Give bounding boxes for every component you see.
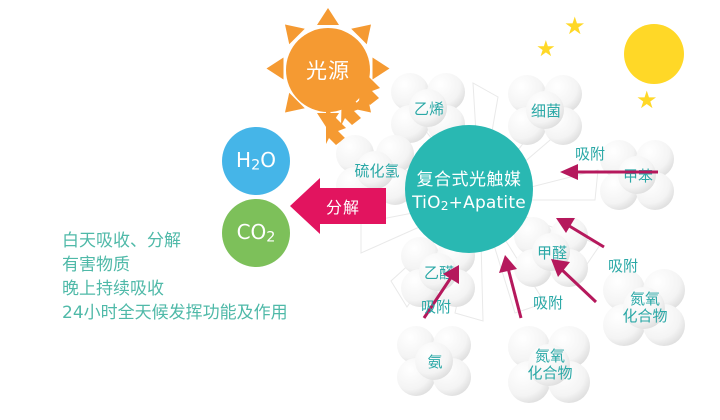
adsorb-label-nox-bottom: 吸附: [533, 292, 563, 313]
description-line-1: 白天吸收、分解: [62, 229, 288, 253]
core-title-en: TiO2+Apatite: [412, 193, 526, 213]
adsorb-label-nox-right: 吸附: [608, 255, 638, 276]
adsorb-label-formaldehyde: 吸附: [421, 296, 451, 317]
core-title-cn: 复合式光触媒: [417, 165, 522, 190]
core-catalyst-circle: 复合式光触媒 TiO2+Apatite: [405, 125, 533, 253]
description-line-2: 有害物质: [62, 253, 288, 277]
infographic-canvas: 光源 ★ ★ ★: [0, 0, 720, 420]
adsorb-label-toluene: 吸附: [575, 143, 605, 164]
description-line-4: 24小时全天候发挥功能及作用: [62, 301, 288, 325]
description-text-block: 白天吸收、分解 有害物质 晚上持续吸收 24小时全天候发挥功能及作用: [62, 229, 288, 326]
decompose-arrow: 分解: [290, 178, 386, 234]
description-line-3: 晚上持续吸收: [62, 277, 288, 301]
decompose-label: 分解: [326, 194, 360, 218]
